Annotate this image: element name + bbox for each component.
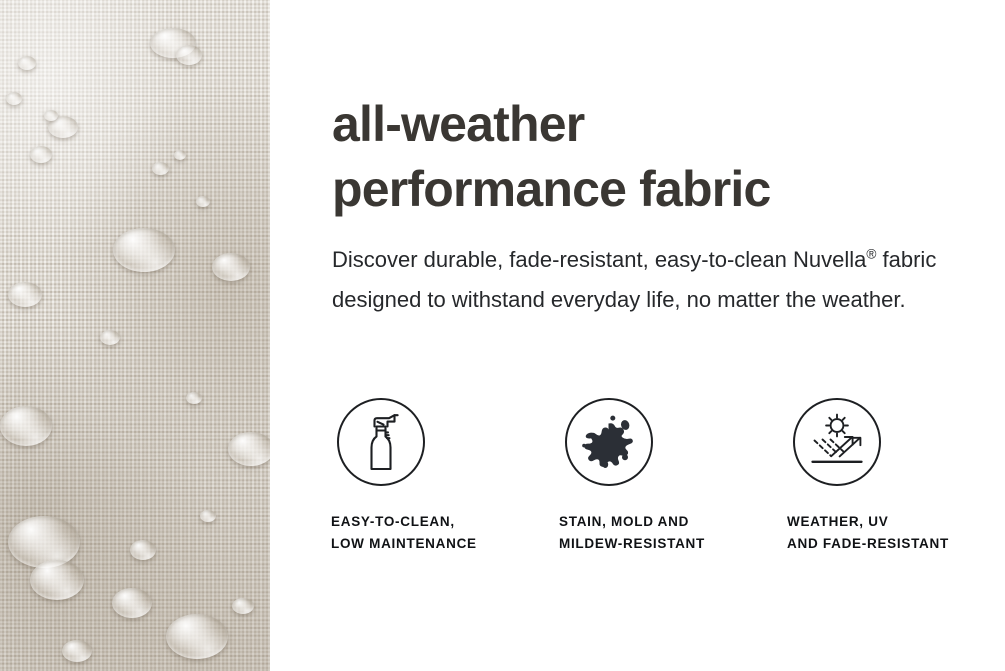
- water-bead: [152, 162, 169, 175]
- subcopy-text-before-mark: Discover durable, fade-resistant, easy-t…: [332, 247, 866, 272]
- water-bead: [113, 228, 175, 272]
- feature-badge: [565, 398, 653, 486]
- feature-caption: STAIN, MOLD AND MILDEW-RESISTANT: [554, 511, 782, 555]
- water-bead: [6, 92, 22, 105]
- subhead-description: Discover durable, fade-resistant, easy-t…: [332, 240, 972, 320]
- water-bead: [62, 640, 92, 662]
- water-bead: [44, 110, 58, 121]
- water-bead: [130, 540, 156, 560]
- all-weather-fabric-banner: all-weather performance fabric Discover …: [0, 0, 1005, 671]
- water-bead: [8, 516, 80, 568]
- water-bead: [30, 560, 84, 600]
- water-bead: [212, 253, 250, 281]
- page-title: all-weather performance fabric: [332, 92, 771, 221]
- water-bead: [166, 614, 228, 659]
- feature-badge: [793, 398, 881, 486]
- water-bead: [200, 510, 216, 522]
- feature-caption-line-2: LOW MAINTENANCE: [331, 533, 554, 555]
- water-bead: [174, 150, 186, 160]
- water-bead: [30, 146, 52, 163]
- feature-list: EASY-TO-CLEAN, LOW MAINTENANCE: [326, 398, 1005, 555]
- water-bead: [112, 588, 152, 618]
- water-bead: [232, 598, 254, 614]
- water-bead: [176, 45, 202, 65]
- water-bead: [196, 196, 210, 207]
- feature-badge: [337, 398, 425, 486]
- water-bead: [8, 282, 42, 307]
- registered-trademark-icon: ®: [866, 247, 876, 262]
- water-bead: [228, 432, 270, 466]
- water-bead: [0, 406, 52, 446]
- feature-caption: EASY-TO-CLEAN, LOW MAINTENANCE: [326, 511, 554, 555]
- feature-caption: WEATHER, UV AND FADE-RESISTANT: [782, 511, 1005, 555]
- feature-caption-line-1: STAIN, MOLD AND: [559, 511, 782, 533]
- content-panel: all-weather performance fabric Discover …: [270, 0, 1005, 671]
- feature-caption-line-2: MILDEW-RESISTANT: [559, 533, 782, 555]
- headline-line-2: performance fabric: [332, 157, 771, 222]
- feature-item-stain-resistant: STAIN, MOLD AND MILDEW-RESISTANT: [554, 398, 782, 555]
- sun-reflect-icon: [806, 413, 868, 471]
- water-bead: [18, 56, 36, 70]
- feature-item-easy-to-clean: EASY-TO-CLEAN, LOW MAINTENANCE: [326, 398, 554, 555]
- feature-item-weather-resistant: WEATHER, UV AND FADE-RESISTANT: [782, 398, 1005, 555]
- fabric-photo: [0, 0, 270, 671]
- water-bead: [100, 330, 120, 345]
- spray-bottle-icon: [353, 412, 409, 472]
- water-bead: [186, 392, 202, 404]
- feature-caption-line-1: EASY-TO-CLEAN,: [331, 511, 554, 533]
- feature-caption-line-2: AND FADE-RESISTANT: [787, 533, 1005, 555]
- feature-caption-line-1: WEATHER, UV: [787, 511, 1005, 533]
- stain-splat-icon: [578, 412, 640, 472]
- headline-line-1: all-weather: [332, 92, 771, 157]
